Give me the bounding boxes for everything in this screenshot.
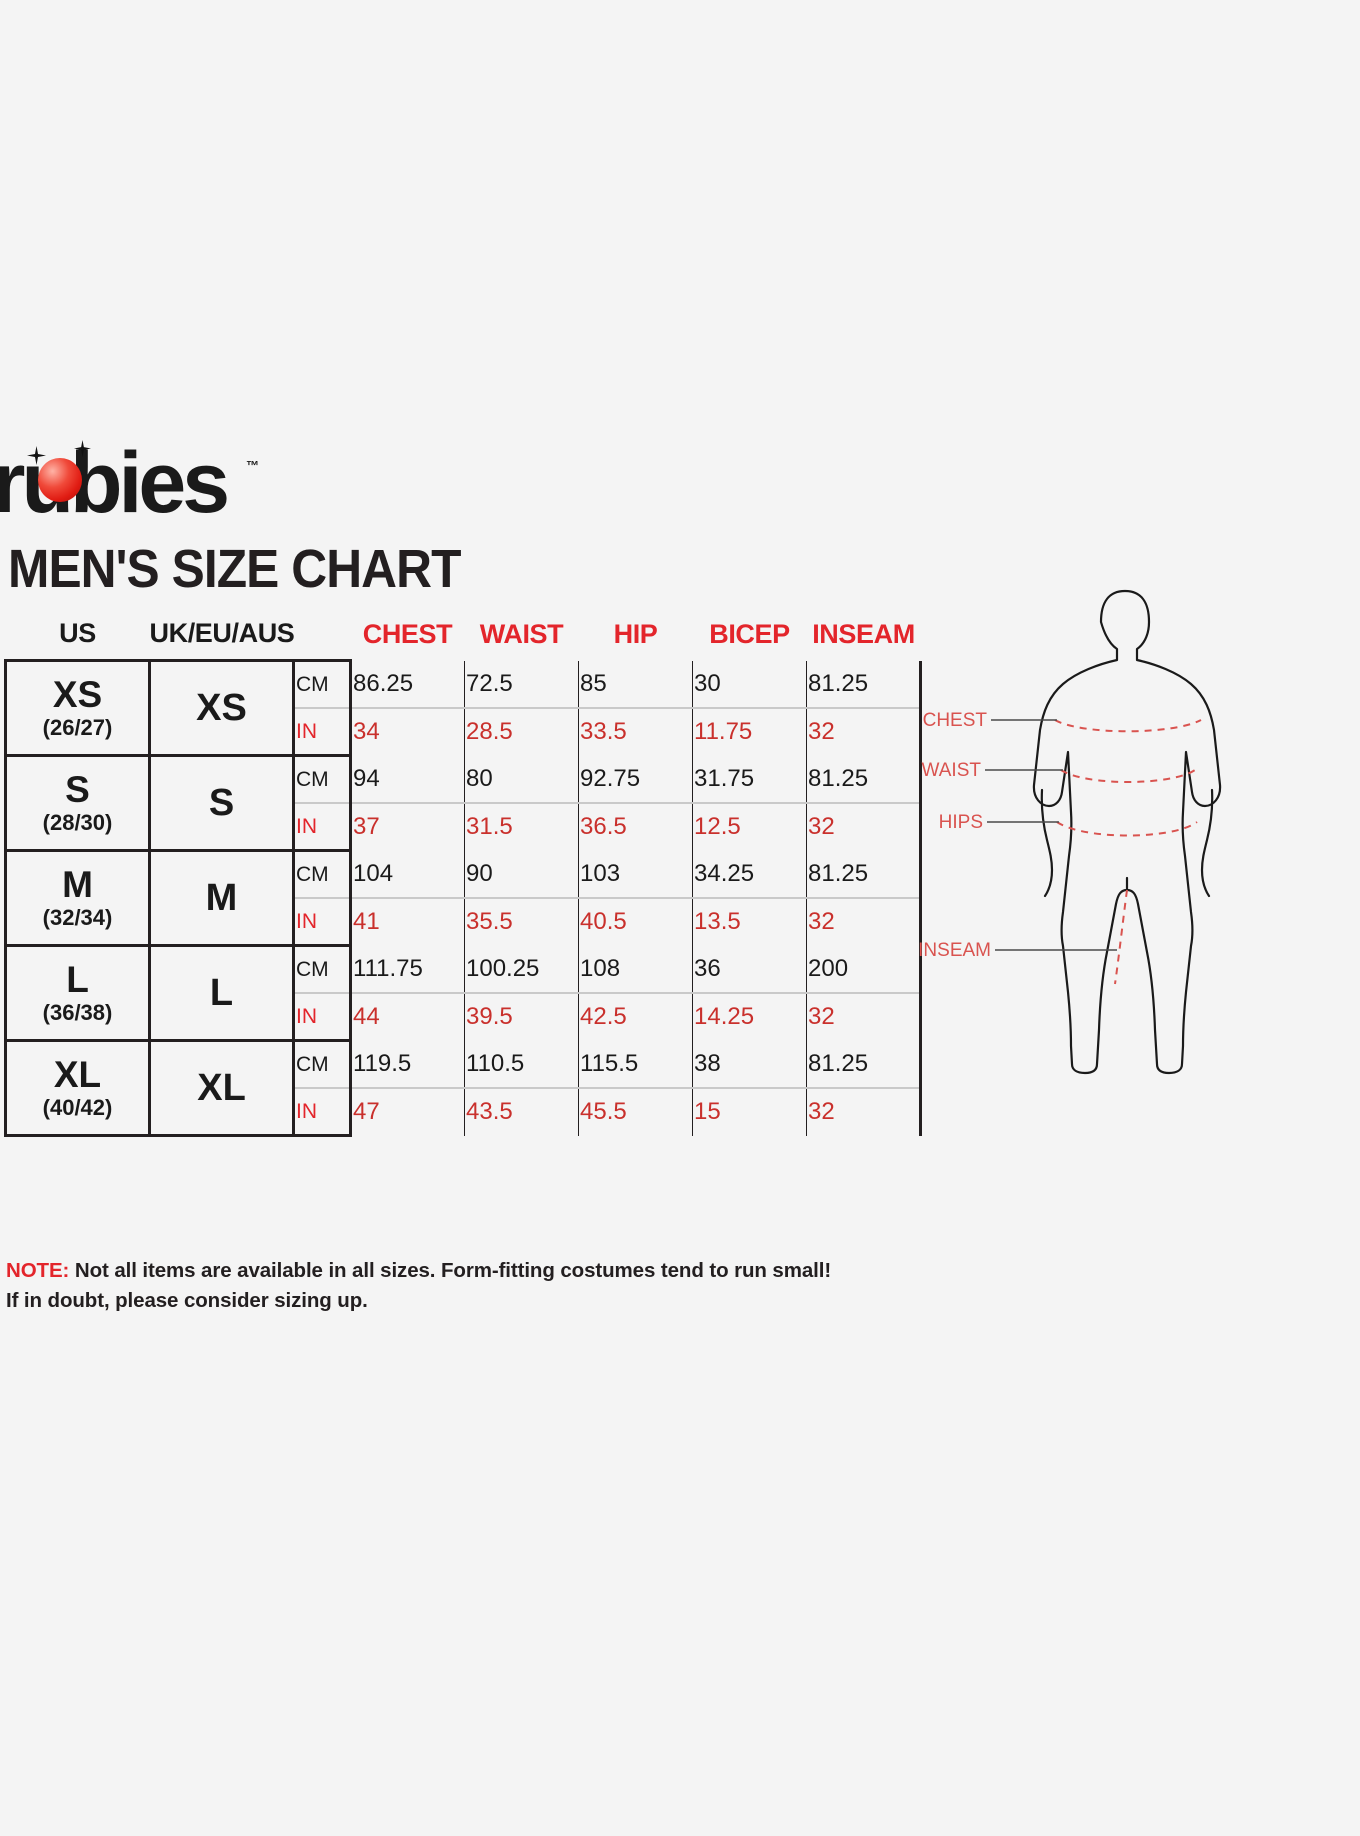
cell-inseam-in: 32 bbox=[807, 708, 921, 756]
cell-chest-in: 47 bbox=[351, 1088, 465, 1136]
cell-bicep-cm: 34.25 bbox=[693, 851, 807, 899]
figure-label-inseam: INSEAM bbox=[918, 940, 991, 961]
cell-inseam-cm: 81.25 bbox=[807, 1041, 921, 1089]
cell-hip-in: 40.5 bbox=[579, 898, 693, 946]
cell-us-size: XL (40/42) bbox=[6, 1041, 150, 1136]
unit-cm: CM bbox=[294, 1041, 351, 1089]
cell-waist-in: 43.5 bbox=[465, 1088, 579, 1136]
cell-uk-size: XS bbox=[150, 661, 294, 756]
unit-cm: CM bbox=[294, 756, 351, 804]
cell-bicep-cm: 38 bbox=[693, 1041, 807, 1089]
cell-waist-cm: 100.25 bbox=[465, 946, 579, 994]
body-silhouette-icon bbox=[1034, 591, 1220, 1073]
cell-inseam-cm: 81.25 bbox=[807, 851, 921, 899]
brand-logo: rubies ™ bbox=[0, 440, 300, 530]
note-line-1: Not all items are available in all sizes… bbox=[69, 1259, 831, 1282]
us-size-label: XS bbox=[8, 675, 147, 715]
cell-waist-cm: 90 bbox=[465, 851, 579, 899]
size-table-body: XS (26/27) XS CM 86.25 72.5 85 30 81.25 … bbox=[6, 661, 921, 1136]
cell-bicep-in: 14.25 bbox=[693, 993, 807, 1041]
uk-size-label: XS bbox=[152, 687, 291, 729]
measurement-guides bbox=[1055, 720, 1201, 984]
size-chart-page: rubies ™ MEN'S SIZE CHART US UK/EU/AUS C… bbox=[0, 0, 1360, 1836]
cell-us-size: M (32/34) bbox=[6, 851, 150, 946]
cell-bicep-cm: 30 bbox=[693, 661, 807, 709]
unit-in: IN bbox=[294, 708, 351, 756]
figure-label-chest: CHEST bbox=[923, 710, 988, 731]
cell-chest-cm: 104 bbox=[351, 851, 465, 899]
figure-label-hips: HIPS bbox=[939, 812, 983, 833]
us-size-range: (26/27) bbox=[8, 715, 147, 741]
cell-chest-in: 41 bbox=[351, 898, 465, 946]
us-size-range: (28/30) bbox=[8, 810, 147, 836]
table-row: XL (40/42) XL CM 119.5 110.5 115.5 38 81… bbox=[6, 1041, 921, 1089]
uk-size-label: M bbox=[152, 877, 291, 919]
unit-cm: CM bbox=[294, 851, 351, 899]
table-row: S (28/30) S CM 94 80 92.75 31.75 81.25 bbox=[6, 756, 921, 804]
cell-uk-size: M bbox=[150, 851, 294, 946]
cell-uk-size: XL bbox=[150, 1041, 294, 1136]
column-header-bicep: BICEP bbox=[693, 618, 807, 661]
note-label: NOTE: bbox=[6, 1259, 69, 1282]
trademark-symbol: ™ bbox=[246, 458, 259, 473]
page-title: MEN'S SIZE CHART bbox=[8, 538, 461, 600]
cell-uk-size: S bbox=[150, 756, 294, 851]
unit-in: IN bbox=[294, 898, 351, 946]
cell-inseam-cm: 81.25 bbox=[807, 661, 921, 709]
us-size-range: (32/34) bbox=[8, 905, 147, 931]
cell-chest-cm: 111.75 bbox=[351, 946, 465, 994]
cell-inseam-cm: 81.25 bbox=[807, 756, 921, 804]
cell-chest-in: 37 bbox=[351, 803, 465, 851]
column-header-inseam: INSEAM bbox=[807, 618, 921, 661]
cell-hip-cm: 85 bbox=[579, 661, 693, 709]
us-size-range: (36/38) bbox=[8, 1000, 147, 1026]
unit-in: IN bbox=[294, 1088, 351, 1136]
cell-waist-cm: 110.5 bbox=[465, 1041, 579, 1089]
cell-inseam-in: 32 bbox=[807, 993, 921, 1041]
cell-inseam-in: 32 bbox=[807, 803, 921, 851]
cell-bicep-cm: 36 bbox=[693, 946, 807, 994]
table-row: XS (26/27) XS CM 86.25 72.5 85 30 81.25 bbox=[6, 661, 921, 709]
us-size-range: (40/42) bbox=[8, 1095, 147, 1121]
cell-hip-cm: 115.5 bbox=[579, 1041, 693, 1089]
figure-label-waist: WAIST bbox=[922, 760, 982, 781]
column-header-uk-eu-aus: UK/EU/AUS bbox=[150, 618, 294, 661]
table-header-row: US UK/EU/AUS CHEST WAIST HIP BICEP INSEA… bbox=[6, 618, 921, 661]
us-size-label: M bbox=[8, 865, 147, 905]
table-row: M (32/34) M CM 104 90 103 34.25 81.25 bbox=[6, 851, 921, 899]
cell-inseam-in: 32 bbox=[807, 1088, 921, 1136]
cell-us-size: S (28/30) bbox=[6, 756, 150, 851]
cell-waist-in: 35.5 bbox=[465, 898, 579, 946]
leader-lines bbox=[985, 720, 1117, 950]
cell-chest-cm: 86.25 bbox=[351, 661, 465, 709]
cell-uk-size: L bbox=[150, 946, 294, 1041]
column-header-hip: HIP bbox=[579, 618, 693, 661]
column-header-us: US bbox=[6, 618, 150, 661]
cell-bicep-in: 13.5 bbox=[693, 898, 807, 946]
cell-hip-cm: 108 bbox=[579, 946, 693, 994]
unit-cm: CM bbox=[294, 946, 351, 994]
cell-bicep-in: 15 bbox=[693, 1088, 807, 1136]
chest-measure-line bbox=[1055, 720, 1201, 731]
cell-chest-cm: 119.5 bbox=[351, 1041, 465, 1089]
uk-size-label: XL bbox=[152, 1067, 291, 1109]
cell-chest-in: 44 bbox=[351, 993, 465, 1041]
note-text: NOTE: Not all items are available in all… bbox=[6, 1256, 906, 1316]
cell-inseam-in: 32 bbox=[807, 898, 921, 946]
hips-measure-line bbox=[1057, 822, 1197, 836]
red-sphere-icon bbox=[38, 458, 82, 502]
cell-hip-in: 33.5 bbox=[579, 708, 693, 756]
size-table-wrapper: US UK/EU/AUS CHEST WAIST HIP BICEP INSEA… bbox=[4, 618, 920, 1137]
uk-size-label: L bbox=[152, 972, 291, 1014]
table-row: L (36/38) L CM 111.75 100.25 108 36 200 bbox=[6, 946, 921, 994]
size-table: US UK/EU/AUS CHEST WAIST HIP BICEP INSEA… bbox=[4, 618, 922, 1137]
cell-hip-cm: 92.75 bbox=[579, 756, 693, 804]
waist-measure-line bbox=[1061, 770, 1195, 782]
column-header-unit bbox=[294, 618, 351, 661]
cell-inseam-cm: 200 bbox=[807, 946, 921, 994]
cell-waist-in: 39.5 bbox=[465, 993, 579, 1041]
cell-bicep-in: 12.5 bbox=[693, 803, 807, 851]
cell-hip-cm: 103 bbox=[579, 851, 693, 899]
us-size-label: L bbox=[8, 960, 147, 1000]
cell-us-size: L (36/38) bbox=[6, 946, 150, 1041]
unit-in: IN bbox=[294, 993, 351, 1041]
cell-hip-in: 42.5 bbox=[579, 993, 693, 1041]
cell-us-size: XS (26/27) bbox=[6, 661, 150, 756]
cell-chest-cm: 94 bbox=[351, 756, 465, 804]
unit-in: IN bbox=[294, 803, 351, 851]
cell-waist-cm: 80 bbox=[465, 756, 579, 804]
cell-hip-in: 45.5 bbox=[579, 1088, 693, 1136]
cell-waist-in: 31.5 bbox=[465, 803, 579, 851]
cell-bicep-in: 11.75 bbox=[693, 708, 807, 756]
cell-hip-in: 36.5 bbox=[579, 803, 693, 851]
cell-waist-cm: 72.5 bbox=[465, 661, 579, 709]
us-size-label: XL bbox=[8, 1055, 147, 1095]
cell-waist-in: 28.5 bbox=[465, 708, 579, 756]
cell-bicep-cm: 31.75 bbox=[693, 756, 807, 804]
us-size-label: S bbox=[8, 770, 147, 810]
column-header-waist: WAIST bbox=[465, 618, 579, 661]
body-measurement-diagram: CHEST WAIST HIPS INSEAM bbox=[905, 560, 1360, 1080]
uk-size-label: S bbox=[152, 782, 291, 824]
note-line-2: If in doubt, please consider sizing up. bbox=[6, 1289, 368, 1312]
brand-logo-text: rubies bbox=[0, 440, 226, 526]
cell-chest-in: 34 bbox=[351, 708, 465, 756]
column-header-chest: CHEST bbox=[351, 618, 465, 661]
unit-cm: CM bbox=[294, 661, 351, 709]
